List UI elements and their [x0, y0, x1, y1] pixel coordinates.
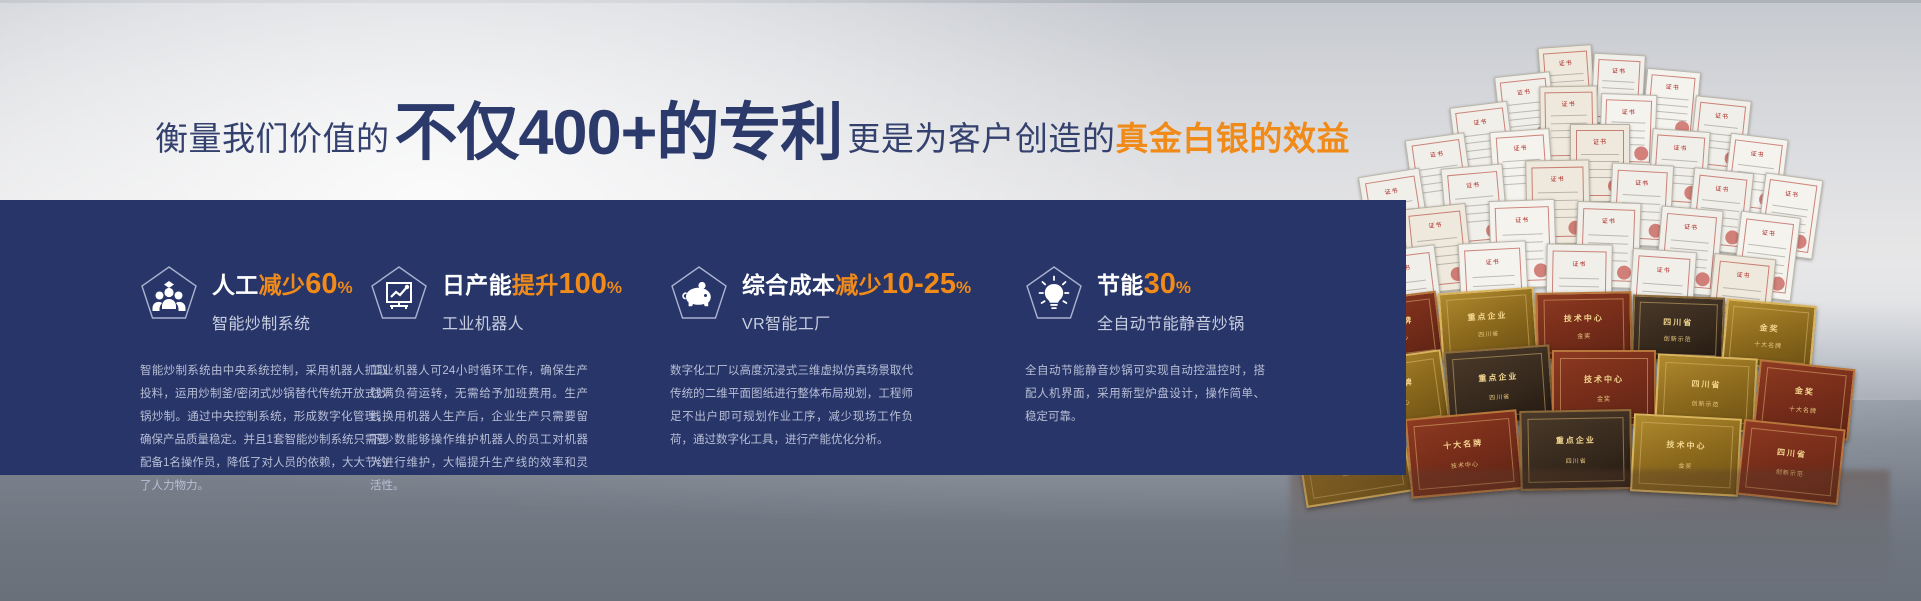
certificate-item: 证书 [1539, 85, 1598, 162]
certificate-item: 证书 [1458, 240, 1531, 333]
award-plaque: 技术中心金奖 [1535, 291, 1632, 361]
top-divider [0, 0, 1921, 3]
feature-subtitle: 工业机器人 [442, 310, 622, 334]
certificate-item: 证书 [1538, 44, 1597, 120]
certificate-item: 证书 [1686, 167, 1754, 255]
feature-item[interactable]: 综合成本减少10-25% VR智能工厂 数字化工厂以高度沉浸式三维虚拟仿真场景取… [630, 200, 975, 475]
piggy-bank-icon [670, 264, 728, 322]
certificate-item: 证书 [1706, 253, 1777, 345]
award-plaque: 技术中心金奖 [1552, 350, 1656, 426]
certificate-item: 证书 [1449, 101, 1516, 185]
certificate-item: 证书 [1575, 201, 1642, 289]
award-plaque: 四川省创新示范 [1654, 353, 1758, 432]
award-plaque: 十大名牌技术中心 [1405, 409, 1524, 498]
award-plaque: 重点企业四川省 [1519, 409, 1632, 491]
feature-title: 综合成本减少10-25% [742, 272, 971, 298]
certificate-item: 证书 [1627, 248, 1697, 340]
people-group-icon [140, 264, 198, 322]
certificate-item: 证书 [1599, 93, 1658, 169]
certificate-item: 证书 [1721, 133, 1788, 217]
award-plaque: 技术中心金奖 [1630, 413, 1742, 497]
certificate-item: 证书 [1641, 68, 1701, 144]
certificate-item: 证书 [1494, 71, 1558, 152]
feature-description: 数字化工厂以高度沉浸式三维虚拟仿真场景取代传统的二维平面图纸进行整体布局规划，工… [670, 360, 913, 452]
certificate-wall-reflection [1290, 470, 1890, 580]
certificate-item: 证书 [1688, 95, 1751, 174]
certificate-item: 证书 [1402, 203, 1475, 295]
certificate-item: 证书 [1525, 159, 1590, 244]
page-title: 衡量我们价值的 不仅400+的专利 更是为客户创造的 真金白银的效益 [155, 78, 1350, 150]
certificate-item: 证书 [1590, 53, 1646, 126]
award-plaque: 重点企业四川省 [1443, 344, 1554, 427]
chart-board-icon [370, 264, 428, 322]
feature-description: 工业机器人可24小时循环工作，确保生产线满负荷运转，无需给予加班费用。生产线换用… [370, 360, 588, 498]
feature-item[interactable]: 日产能提升100% 工业机器人 工业机器人可24小时循环工作，确保生产线满负荷运… [330, 200, 630, 475]
headline-lead: 衡量我们价值的 [155, 112, 390, 160]
certificate-item: 证书 [1654, 205, 1723, 296]
feature-title: 日产能提升100% [442, 272, 622, 298]
certificate-item: 证书 [1488, 199, 1557, 289]
award-plaque: 金奖十大名牌 [1721, 298, 1816, 372]
lightbulb-icon [1025, 264, 1083, 322]
headline-middle: 更是为客户创造的 [847, 112, 1115, 160]
certificate-item: 证书 [1405, 132, 1476, 220]
feature-item[interactable]: 人工减少60% 智能炒制系统 智能炒制系统由中央系统控制，采用机器人抓取投料，运… [0, 200, 330, 475]
certificate-item: 证书 [1570, 124, 1630, 202]
certificate-item: 证书 [1441, 163, 1510, 250]
certificate-item: 证书 [1545, 243, 1613, 332]
feature-item[interactable]: 节能30% 全自动节能静音炒锅 全自动节能静音炒锅可实现自动控温控时，搭配人机界… [975, 200, 1305, 475]
award-plaque: 重点企业四川省 [1438, 287, 1539, 362]
headline-emphasis: 不仅400+的专利 [395, 82, 843, 173]
award-plaque: 金奖十大名牌 [1753, 359, 1856, 441]
feature-subtitle: VR智能工厂 [742, 310, 971, 334]
feature-description: 全自动节能静音炒锅可实现自动控温控时，搭配人机界面，采用新型炉盘设计，操作简单、… [1025, 360, 1265, 429]
certificate-item: 证书 [1755, 172, 1824, 259]
certificate-item: 证书 [1647, 128, 1710, 210]
certificate-item: 证书 [1731, 211, 1801, 302]
feature-panel: 人工减少60% 智能炒制系统 智能炒制系统由中央系统控制，采用机器人抓取投料，运… [0, 200, 1406, 475]
headline-highlight: 真金白银的效益 [1115, 112, 1350, 160]
award-plaque: 四川省创新示范 [1631, 294, 1725, 363]
certificate-item: 证书 [1608, 162, 1674, 247]
feature-title: 节能30% [1097, 272, 1191, 298]
banner-stage: 证书证书证书证书证书证书证书证书证书证书证书证书证书证书证书证书证书证书证书证书… [0, 0, 1921, 601]
award-plaque: 四川省创新示范 [1736, 419, 1845, 505]
certificate-item: 证书 [1489, 128, 1554, 210]
feature-subtitle: 全自动节能静音炒锅 [1097, 310, 1245, 334]
